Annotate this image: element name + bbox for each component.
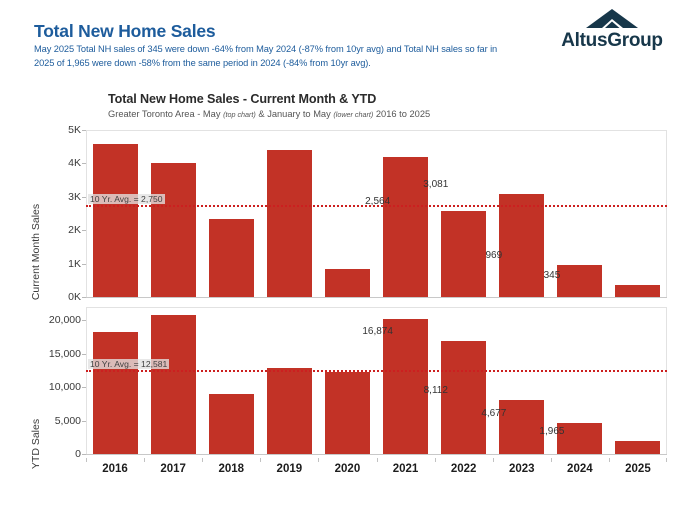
plot-area-current-month (86, 130, 667, 297)
y-axis-tick-current-month: 4K (68, 157, 86, 169)
bar-value-label-ytd-2022: 16,874 (362, 326, 393, 337)
bar-ytd-2020[interactable] (325, 372, 370, 454)
y-axis-tick-current-month: 2K (68, 224, 86, 236)
chart-subtitle-note-top: (top chart) (223, 110, 256, 119)
x-axis-tick-2019: 2019 (277, 463, 303, 475)
x-axis-minor-tick (435, 458, 436, 462)
chart-subtitle-mid: & January to May (256, 109, 334, 119)
bar-current-month-2025[interactable] (615, 285, 660, 297)
chart-subtitle: Greater Toronto Area - May (top chart) &… (108, 109, 430, 119)
page-title: Total New Home Sales (34, 21, 215, 42)
bar-value-label-current-month-2024: 969 (486, 250, 503, 261)
x-axis-labels: 2016201720182019202020212022202320242025 (86, 458, 667, 478)
bar-ytd-2019[interactable] (267, 368, 312, 454)
y-axis-title-top-chart: Current Month Sales (30, 192, 42, 312)
x-axis-minor-tick (260, 458, 261, 462)
x-axis-line-bottom (86, 454, 667, 455)
bar-ytd-2018[interactable] (209, 394, 254, 454)
y-axis-tick-ytd: 20,000 (49, 314, 86, 326)
x-axis-tick-2021: 2021 (393, 463, 419, 475)
bar-current-month-2024[interactable] (557, 265, 602, 297)
y-axis-tick-ytd: 15,000 (49, 348, 86, 360)
bar-current-month-2022[interactable] (441, 211, 486, 297)
bar-current-month-2016[interactable] (93, 144, 138, 297)
y-axis-tick-current-month: 3K (68, 191, 86, 203)
x-axis-minor-tick (666, 458, 667, 462)
bar-value-label-ytd-2025: 1,965 (539, 426, 564, 437)
x-axis-line-top (86, 297, 667, 298)
bar-current-month-2023[interactable] (499, 194, 544, 297)
bar-current-month-2018[interactable] (209, 219, 254, 297)
bar-ytd-2016[interactable] (93, 332, 138, 454)
chart-subtitle-prefix: Greater Toronto Area - May (108, 109, 223, 119)
x-axis-minor-tick (609, 458, 610, 462)
bar-ytd-2025[interactable] (615, 441, 660, 454)
y-axis-tick-ytd: 10,000 (49, 381, 86, 393)
x-axis-tick-2022: 2022 (451, 463, 477, 475)
chart-container: Total New Home Sales - Current Month & Y… (0, 86, 696, 496)
ten-year-average-label-ytd: 10 Yr. Avg. = 12,581 (88, 359, 169, 369)
y-axis-tick-current-month: 1K (68, 258, 86, 270)
bar-ytd-2022[interactable] (441, 341, 486, 454)
bar-value-label-current-month-2023: 3,081 (423, 179, 448, 190)
bar-value-label-ytd-2023: 8,112 (424, 385, 448, 396)
y-axis-tick-ytd: 5,000 (55, 415, 86, 427)
x-axis-minor-tick (551, 458, 552, 462)
x-axis-minor-tick (202, 458, 203, 462)
x-axis-tick-2024: 2024 (567, 463, 593, 475)
x-axis-minor-tick (493, 458, 494, 462)
bar-value-label-ytd-2024: 4,677 (481, 408, 506, 419)
ten-year-average-label-current-month: 10 Yr. Avg. = 2,750 (88, 194, 165, 204)
bar-ytd-2021[interactable] (383, 319, 428, 454)
bar-current-month-2017[interactable] (151, 163, 196, 297)
y-axis-tick-current-month: 0K (68, 291, 86, 303)
bar-ytd-2017[interactable] (151, 315, 196, 454)
bar-current-month-2020[interactable] (325, 269, 370, 297)
logo-wordmark: AltusGroup (542, 30, 682, 52)
bar-value-label-current-month-2025: 345 (544, 270, 561, 281)
bar-current-month-2019[interactable] (267, 150, 312, 297)
chart-title: Total New Home Sales - Current Month & Y… (108, 92, 376, 106)
ten-year-average-line-ytd (86, 370, 667, 372)
page-summary: May 2025 Total NH sales of 345 were down… (34, 43, 514, 70)
x-axis-minor-tick (318, 458, 319, 462)
x-axis-tick-2025: 2025 (625, 463, 651, 475)
y-axis-title-bottom-chart: YTD Sales (30, 394, 42, 494)
x-axis-minor-tick (377, 458, 378, 462)
mountain-triangle-icon (585, 8, 639, 30)
y-axis-tick-ytd: 0 (75, 448, 86, 460)
ten-year-average-line-current-month (86, 205, 667, 207)
x-axis-tick-2016: 2016 (102, 463, 128, 475)
x-axis-tick-2020: 2020 (335, 463, 361, 475)
chart-subtitle-suffix: 2016 to 2025 (373, 109, 430, 119)
x-axis-tick-2017: 2017 (160, 463, 186, 475)
x-axis-tick-2018: 2018 (218, 463, 244, 475)
x-axis-minor-tick (86, 458, 87, 462)
x-axis-minor-tick (144, 458, 145, 462)
page-header: Total New Home Sales May 2025 Total NH s… (0, 0, 696, 86)
chart-subtitle-note-lower: (lower chart) (333, 110, 373, 119)
y-axis-tick-current-month: 5K (68, 124, 86, 136)
x-axis-tick-2023: 2023 (509, 463, 535, 475)
bar-current-month-2021[interactable] (383, 157, 428, 297)
altus-group-logo: AltusGroup (542, 8, 682, 56)
